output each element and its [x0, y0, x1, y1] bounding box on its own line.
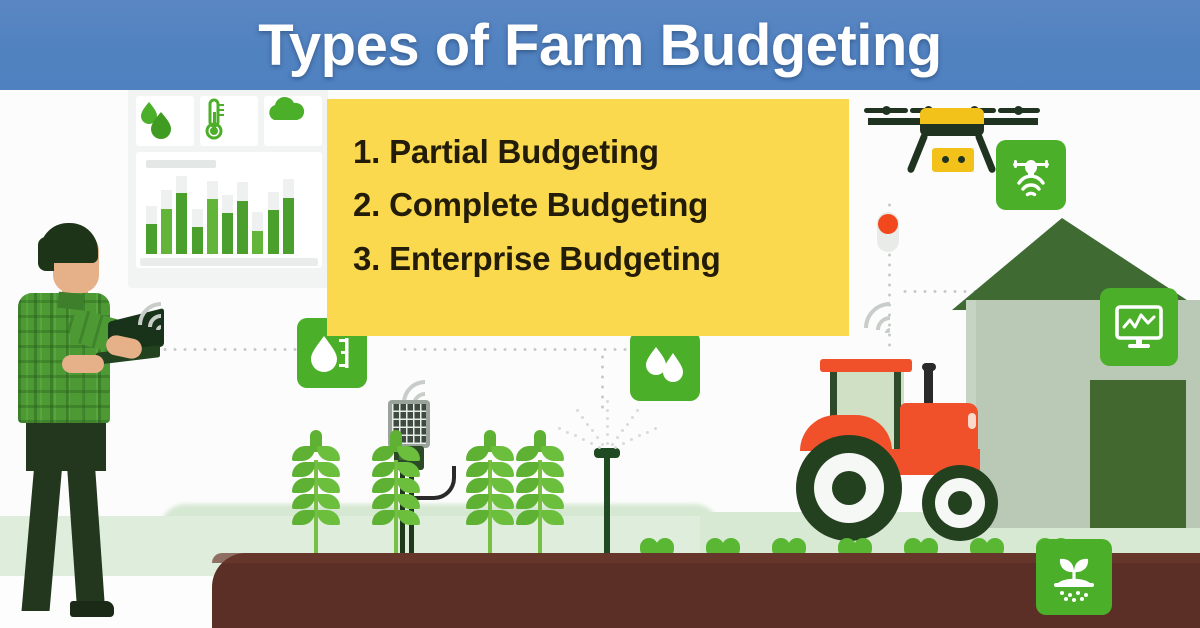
spray-droplet: [646, 431, 649, 434]
barn-door: [1090, 380, 1186, 528]
wheat-leaf-left: [466, 494, 489, 509]
tractor-rear-hub: [832, 471, 866, 505]
wheat-leaf-left: [292, 446, 315, 461]
panel-chart-title-bar: [146, 160, 216, 168]
farmer-shoe: [70, 601, 114, 617]
bar-column: [222, 176, 233, 254]
tractor: [782, 357, 997, 517]
wheat-leaf-right: [541, 510, 564, 525]
wheat-leaf-right: [317, 510, 340, 525]
wheat-leaf-right: [317, 494, 340, 509]
wheat-leaf-left: [372, 446, 395, 461]
spray-droplet: [606, 417, 609, 420]
farmer-leg-left: [22, 463, 63, 611]
wheat-leaf-left: [292, 510, 315, 525]
wheat-leaf-right: [541, 494, 564, 509]
wifi-signal-icon-right: [862, 300, 928, 350]
wheat-leaf-right: [317, 478, 340, 493]
bar-value: [268, 210, 279, 254]
connector-dots-vertical-2: [601, 352, 604, 412]
wheat-leaf-left: [516, 462, 539, 477]
wheat-leaf-right: [397, 494, 420, 509]
sprinkler-head: [594, 448, 620, 458]
spray-droplet: [576, 409, 579, 412]
farmer-hand-left: [62, 355, 104, 373]
drone-body-underside: [920, 124, 984, 136]
wheat-stalk: [512, 430, 568, 570]
spray-droplet: [586, 423, 589, 426]
wheat-leaf-left: [516, 510, 539, 525]
spray-droplet: [654, 427, 657, 430]
drone-leg-right: [974, 132, 996, 174]
wheat-leaf-right: [541, 446, 564, 461]
bar-value: [252, 231, 263, 254]
tractor-exhaust-pipe: [924, 365, 933, 407]
title-banner: Types of Farm Budgeting: [0, 0, 1200, 90]
wheat-leaf-right: [541, 462, 564, 477]
cloud-icon: [264, 96, 322, 146]
illustration-canvas: Types of Farm Budgeting 1. Partial Budge…: [0, 0, 1200, 628]
sensor-indicator-light: [878, 214, 898, 234]
bar-column: [268, 176, 279, 254]
drone-hub-4: [1014, 106, 1023, 115]
wheat-leaf-right: [491, 478, 514, 493]
wheat-leaf-left: [516, 478, 539, 493]
water-drops-icon[interactable]: [630, 331, 700, 401]
wheat-leaf-left: [466, 510, 489, 525]
wheat-leaf-right: [397, 446, 420, 461]
panel-bars: [146, 176, 314, 254]
wheat-leaf-left: [372, 494, 395, 509]
bar-column: [207, 176, 218, 254]
wheat-leaf-right: [397, 462, 420, 477]
drone-camera: [932, 148, 974, 172]
wheat-stalk: [288, 430, 344, 570]
drone-camera-lens-right: [958, 156, 965, 163]
wheat-leaf-left: [292, 462, 315, 477]
drone-leg-left: [906, 132, 928, 174]
bar-value: [207, 199, 218, 254]
farmer-collar: [57, 292, 85, 311]
wifi-signal-icon: [136, 300, 196, 346]
list-item-1: 1. Partial Budgeting: [353, 125, 849, 178]
farmer-with-laptop: [10, 215, 160, 615]
wheat-leaf-right: [541, 478, 564, 493]
bar-column: [283, 176, 294, 254]
farmer-leg-right: [67, 463, 105, 611]
bar-value: [283, 198, 294, 254]
bar-column: [161, 176, 172, 254]
wheat-leaf-left: [372, 478, 395, 493]
wheat-leaf-right: [397, 478, 420, 493]
drone-hub-1: [882, 106, 891, 115]
panel-metric-tiles: [136, 96, 322, 146]
wheat-leaf-left: [466, 446, 489, 461]
spray-droplet: [626, 423, 629, 426]
wheat-leaf-left: [466, 478, 489, 493]
wheat-leaf-left: [292, 478, 315, 493]
water-drop-icon: [136, 96, 194, 146]
connector-dots-mid: [400, 348, 640, 351]
thermometer-icon: [200, 96, 258, 146]
tractor-front-hub: [948, 491, 972, 515]
panel-footer-bar: [140, 258, 318, 266]
page-title: Types of Farm Budgeting: [0, 0, 1200, 90]
list-item-2: 2. Complete Budgeting: [353, 178, 849, 231]
bar-column: [252, 176, 263, 254]
bar-column: [192, 176, 203, 254]
bar-column: [237, 176, 248, 254]
wheat-stalk: [368, 430, 424, 570]
wheat-leaf-right: [397, 510, 420, 525]
tractor-roof: [820, 359, 912, 372]
bar-value: [222, 213, 233, 254]
bar-column: [176, 176, 187, 254]
wheat-leaf-right: [491, 446, 514, 461]
wheat-leaf-left: [516, 446, 539, 461]
list-item-3: 3. Enterprise Budgeting: [353, 232, 849, 285]
seedling-soil-icon[interactable]: [1036, 539, 1112, 615]
spray-droplet: [581, 416, 584, 419]
farmer-sideburn: [38, 237, 54, 271]
monitor-chart-icon[interactable]: [1100, 288, 1178, 366]
wheat-leaf-left: [372, 510, 395, 525]
wheat-leaf-left: [292, 494, 315, 509]
wheat-leaf-right: [491, 494, 514, 509]
wheat-leaf-right: [317, 446, 340, 461]
budget-types-callout: 1. Partial Budgeting 2. Complete Budgeti…: [327, 99, 849, 336]
wheat-leaf-right: [491, 462, 514, 477]
wheat-stalk: [462, 430, 518, 570]
bar-value: [176, 193, 187, 254]
farmer-pants: [26, 415, 106, 471]
drone-camera-lens-left: [942, 156, 949, 163]
wheat-leaf-right: [317, 462, 340, 477]
wheat-leaf-right: [491, 510, 514, 525]
tractor-headlight: [968, 413, 976, 429]
drone-signal-icon[interactable]: [996, 140, 1066, 210]
spray-droplet: [631, 416, 634, 419]
bar-value: [192, 227, 203, 254]
wheat-leaf-left: [372, 462, 395, 477]
bar-value: [161, 209, 172, 254]
spray-droplet: [606, 409, 609, 412]
bar-value: [237, 201, 248, 254]
wheat-leaf-left: [466, 462, 489, 477]
wheat-leaf-left: [516, 494, 539, 509]
spray-droplet: [606, 442, 609, 445]
